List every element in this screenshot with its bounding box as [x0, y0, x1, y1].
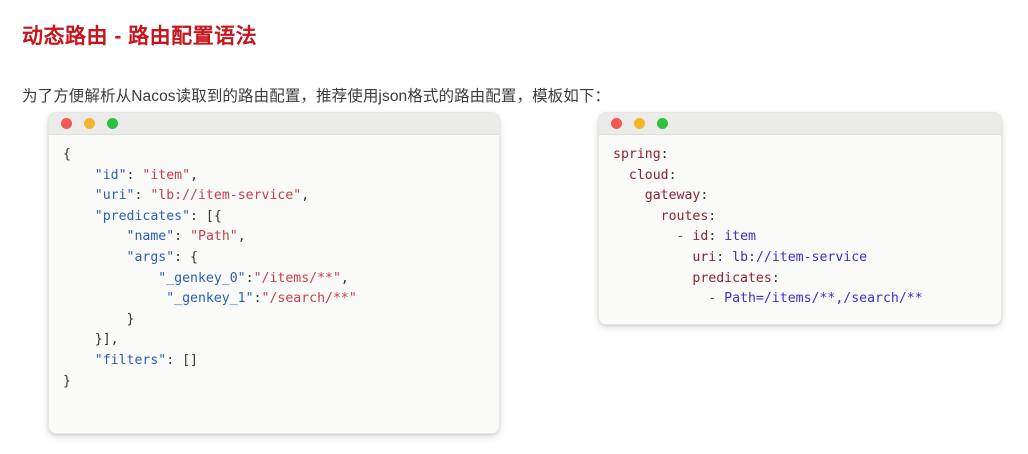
maximize-button-icon[interactable]: [657, 118, 668, 129]
code-token: "filters": [95, 353, 166, 368]
page-title: 动态路由 - 路由配置语法: [22, 20, 257, 50]
code-token: "_genkey_0": [158, 271, 245, 286]
code-line: routes:: [613, 207, 987, 228]
code-token: ,: [301, 188, 309, 203]
code-token: : {: [174, 250, 198, 265]
minimize-button-icon[interactable]: [84, 118, 95, 129]
code-line: "id": "item",: [63, 166, 485, 187]
code-token: [613, 209, 661, 224]
code-token: id: [692, 229, 708, 244]
code-line: }: [63, 310, 485, 331]
code-token: :: [127, 168, 143, 183]
code-token: :: [174, 229, 190, 244]
code-line: - id: item: [613, 227, 987, 248]
code-token: :: [772, 271, 780, 286]
code-token: [613, 168, 629, 183]
code-token: uri: [692, 250, 716, 265]
code-token: [63, 271, 158, 286]
code-token: :: [246, 271, 254, 286]
code-token: [63, 353, 95, 368]
page-subtitle: 为了方便解析从Nacos读取到的路由配置，推荐使用json格式的路由配置，模板如…: [22, 84, 610, 106]
code-token: gateway: [645, 188, 701, 203]
code-token: :: [716, 250, 732, 265]
code-line: "_genkey_0":"/items/**",: [63, 269, 485, 290]
code-token: Path=/items/**,/search/**: [724, 291, 923, 306]
code-token: [63, 188, 95, 203]
code-token: lb://item-service: [732, 250, 867, 265]
code-window-yaml: spring: cloud: gateway: routes: - id: it…: [598, 112, 1002, 325]
code-token: [613, 229, 677, 244]
titlebar-yaml: [599, 113, 1001, 135]
code-token: cloud: [629, 168, 669, 183]
code-content-yaml[interactable]: spring: cloud: gateway: routes: - id: it…: [599, 135, 1001, 322]
code-token: ,: [190, 168, 198, 183]
code-window-json: { "id": "item", "uri": "lb://item-servic…: [48, 112, 500, 434]
code-token: spring: [613, 147, 661, 162]
code-line: uri: lb://item-service: [613, 248, 987, 269]
code-token: -: [708, 291, 724, 306]
code-token: -: [677, 229, 693, 244]
code-token: "args": [127, 250, 175, 265]
code-line: "predicates": [{: [63, 207, 485, 228]
code-token: "Path": [190, 229, 238, 244]
code-token: :: [669, 168, 677, 183]
code-token: "_genkey_1": [166, 291, 253, 306]
code-line: }],: [63, 330, 485, 351]
code-token: [613, 188, 645, 203]
code-token: :: [254, 291, 262, 306]
code-token: }],: [63, 332, 119, 347]
code-token: [63, 250, 127, 265]
code-line: gateway:: [613, 186, 987, 207]
code-token: [63, 168, 95, 183]
code-token: [613, 271, 692, 286]
code-token: [63, 229, 127, 244]
close-button-icon[interactable]: [61, 118, 72, 129]
code-token: }: [63, 374, 71, 389]
maximize-button-icon[interactable]: [107, 118, 118, 129]
code-line: "filters": []: [63, 351, 485, 372]
code-token: {: [63, 147, 71, 162]
code-line: "uri": "lb://item-service",: [63, 186, 485, 207]
code-token: :: [708, 229, 724, 244]
code-line: "name": "Path",: [63, 227, 485, 248]
code-line: predicates:: [613, 269, 987, 290]
code-line: spring:: [613, 145, 987, 166]
code-token: [63, 291, 166, 306]
code-token: "item": [142, 168, 190, 183]
code-line: {: [63, 145, 485, 166]
code-line: cloud:: [613, 166, 987, 187]
code-token: [63, 209, 95, 224]
code-token: "lb://item-service": [150, 188, 301, 203]
code-token: [613, 250, 692, 265]
code-token: routes: [661, 209, 709, 224]
code-line: "_genkey_1":"/search/**": [63, 289, 485, 310]
code-token: "predicates": [95, 209, 190, 224]
code-token: [613, 291, 708, 306]
code-token: "name": [127, 229, 175, 244]
code-line: "args": {: [63, 248, 485, 269]
code-token: :: [661, 147, 669, 162]
minimize-button-icon[interactable]: [634, 118, 645, 129]
code-line: }: [63, 372, 485, 393]
code-token: : []: [166, 353, 198, 368]
code-token: :: [134, 188, 150, 203]
code-token: item: [724, 229, 756, 244]
code-content-json[interactable]: { "id": "item", "uri": "lb://item-servic…: [49, 135, 499, 404]
code-line: - Path=/items/**,/search/**: [613, 289, 987, 310]
close-button-icon[interactable]: [611, 118, 622, 129]
code-token: : [{: [190, 209, 222, 224]
code-token: "/search/**": [262, 291, 357, 306]
code-token: :: [708, 209, 716, 224]
code-token: predicates: [692, 271, 771, 286]
code-token: "id": [95, 168, 127, 183]
code-token: }: [63, 312, 134, 327]
code-token: :: [700, 188, 708, 203]
code-token: "/items/**": [254, 271, 341, 286]
code-token: "uri": [95, 188, 135, 203]
titlebar-json: [49, 113, 499, 135]
code-token: ,: [238, 229, 246, 244]
code-token: ,: [341, 271, 349, 286]
